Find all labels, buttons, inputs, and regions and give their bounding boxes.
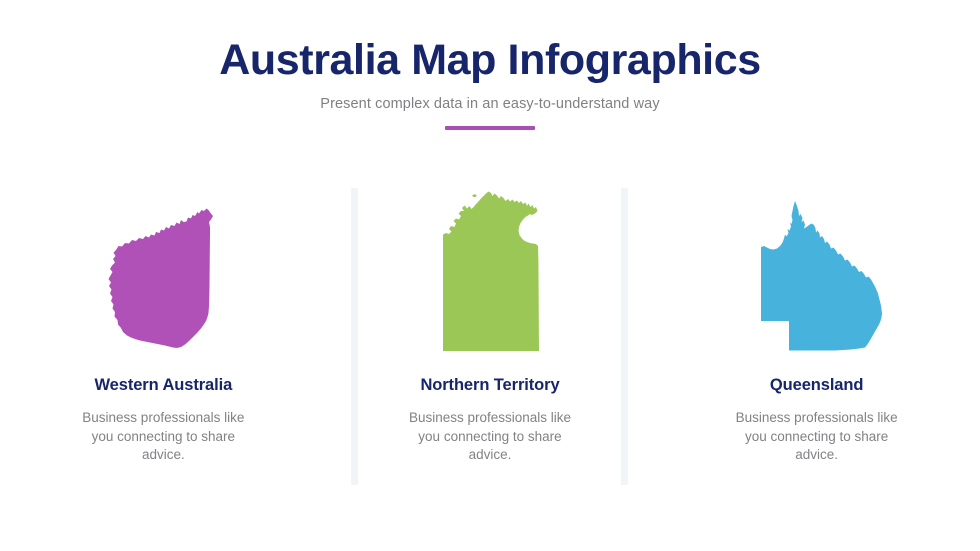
infographic-slide: Australia Map Infographics Present compl…: [0, 0, 980, 551]
accent-underline: [445, 126, 535, 130]
queensland-map-icon: [747, 195, 887, 358]
slide-header: Australia Map Infographics Present compl…: [0, 38, 980, 130]
state-name-queensland: Queensland: [770, 376, 863, 395]
columns-container: Western Australia Business professionals…: [0, 186, 980, 496]
northern-territory-map-icon: [431, 186, 549, 358]
accent-line-wrap: [0, 126, 980, 130]
state-name-western-australia: Western Australia: [94, 376, 232, 395]
map-slot-queensland: [653, 186, 980, 358]
state-description-northern-territory: Business professionals like you connecti…: [397, 409, 582, 465]
column-queensland[interactable]: Queensland Business professionals like y…: [653, 186, 980, 496]
page-subtitle: Present complex data in an easy-to-under…: [0, 96, 980, 112]
column-northern-territory[interactable]: Northern Territory Business professional…: [327, 186, 654, 496]
map-slot-northern-territory: [327, 186, 654, 358]
state-description-queensland: Business professionals like you connecti…: [724, 409, 909, 465]
column-western-australia[interactable]: Western Australia Business professionals…: [0, 186, 327, 496]
map-slot-western-australia: [0, 186, 327, 358]
state-description-western-australia: Business professionals like you connecti…: [71, 409, 256, 465]
page-title: Australia Map Infographics: [0, 38, 980, 83]
state-name-northern-territory: Northern Territory: [420, 376, 559, 395]
western-australia-map-icon: [107, 198, 219, 358]
